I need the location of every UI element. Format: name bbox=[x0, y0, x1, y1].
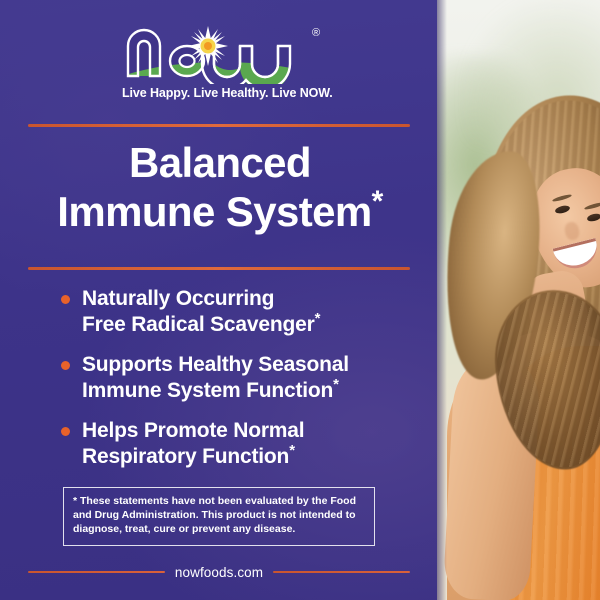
brand-tagline: Live Happy. Live Healthy. Live NOW. bbox=[122, 86, 312, 100]
sunburst-icon bbox=[188, 26, 228, 66]
benefit-line-2: Free Radical Scavenger bbox=[82, 313, 315, 336]
photo-left-edge-shadow bbox=[437, 0, 447, 600]
divider-middle bbox=[28, 267, 410, 270]
list-item: Supports Healthy Seasonal Immune System … bbox=[58, 352, 428, 405]
brand-logo: ® Live Happy. Live Healthy. Live NOW. bbox=[122, 24, 327, 106]
benefit-line-2: Respiratory Function bbox=[82, 445, 289, 468]
benefit-asterisk: * bbox=[315, 310, 321, 327]
advertisement-banner: ® Live Happy. Live Healthy. Live NOW. Ba… bbox=[0, 0, 600, 600]
headline-line-1: Balanced bbox=[129, 139, 311, 186]
benefit-line-1: Supports Healthy Seasonal bbox=[82, 353, 349, 376]
benefit-asterisk: * bbox=[333, 376, 339, 393]
bullet-dot-icon bbox=[61, 295, 70, 304]
page-title: Balanced Immune System* bbox=[24, 139, 416, 236]
now-wordmark-icon bbox=[122, 24, 327, 84]
footer-rule-right bbox=[273, 571, 410, 573]
fda-disclaimer: * These statements have not been evaluat… bbox=[63, 487, 375, 546]
divider-top bbox=[28, 124, 410, 127]
benefit-line-1: Helps Promote Normal bbox=[82, 419, 304, 442]
list-item: Naturally Occurring Free Radical Scaveng… bbox=[58, 286, 428, 339]
benefit-line-1: Naturally Occurring bbox=[82, 287, 274, 310]
footer: nowfoods.com bbox=[28, 562, 410, 582]
bullet-dot-icon bbox=[61, 361, 70, 370]
website-url[interactable]: nowfoods.com bbox=[175, 565, 263, 580]
list-item: Helps Promote Normal Respiratory Functio… bbox=[58, 418, 428, 471]
benefit-asterisk: * bbox=[289, 442, 295, 459]
headline-asterisk: * bbox=[372, 185, 383, 218]
headline-line-2: Immune System bbox=[57, 188, 371, 235]
benefit-line-2: Immune System Function bbox=[82, 379, 333, 402]
bullet-dot-icon bbox=[61, 427, 70, 436]
registered-trademark-icon: ® bbox=[312, 28, 320, 39]
lifestyle-photo bbox=[437, 0, 600, 600]
footer-rule-left bbox=[28, 571, 165, 573]
benefits-list: Naturally Occurring Free Radical Scaveng… bbox=[58, 286, 428, 471]
